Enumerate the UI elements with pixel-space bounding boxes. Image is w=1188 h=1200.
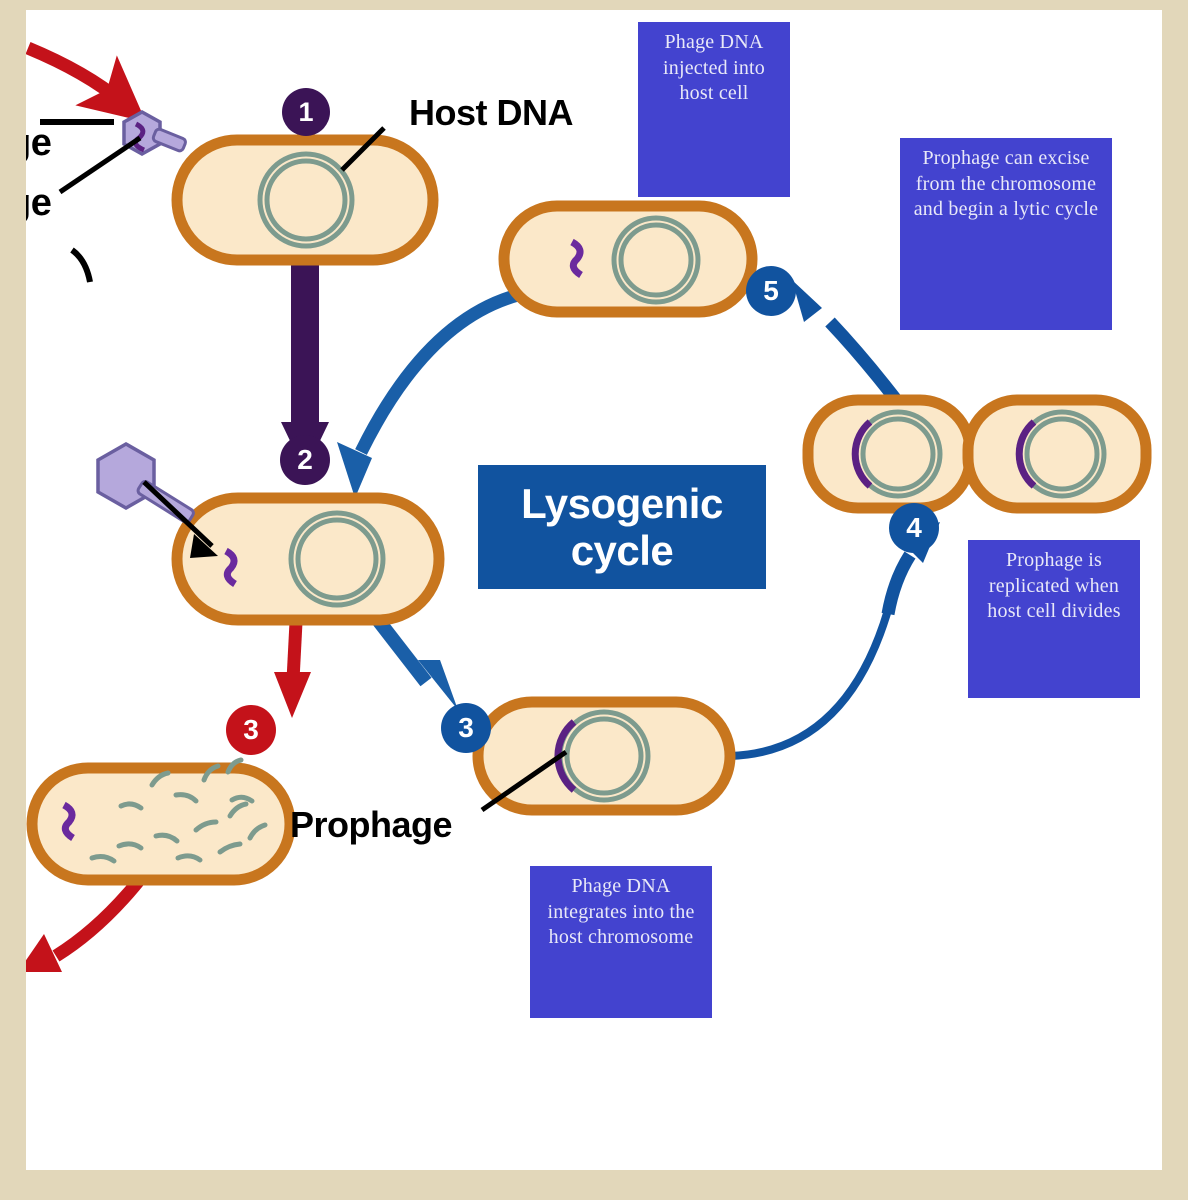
step-badge-3-lysogenic[interactable]: 3	[441, 703, 491, 753]
step-badge-5-label: 5	[763, 275, 779, 307]
step-badge-2[interactable]: 2	[280, 435, 330, 485]
label-phage-clipped-1: ge	[26, 122, 51, 165]
callout-prophage-excise-text: Prophage can excise from the chromosome …	[914, 147, 1099, 220]
step-badge-3-lytic[interactable]: 3	[226, 705, 276, 755]
image-frame: 1 2 3 3 4 5 Lysogenic cycle Phage DNA in…	[0, 0, 1188, 1200]
cell-excised	[504, 206, 752, 312]
cycle-title-banner: Lysogenic cycle	[478, 465, 766, 589]
callout-phage-dna-injected: Phage DNA injected into host cell	[638, 22, 790, 197]
callout-phage-dna-injected-text: Phage DNA injected into host cell	[663, 31, 765, 104]
step-badge-3-lysogenic-label: 3	[458, 712, 474, 744]
cycle-title-line2: cycle	[571, 527, 674, 574]
callout-prophage-replicated: Prophage is replicated when host cell di…	[968, 540, 1140, 698]
label-prophage-text: Prophage	[290, 804, 452, 845]
callout-prophage-excise: Prophage can excise from the chromosome …	[900, 138, 1112, 330]
label-prophage: Prophage	[290, 804, 452, 846]
diagram-canvas: 1 2 3 3 4 5 Lysogenic cycle Phage DNA in…	[26, 10, 1162, 1170]
step-badge-3-lytic-label: 3	[243, 714, 259, 746]
phage-dna-free-2	[226, 551, 235, 584]
arrow-incoming-red	[28, 48, 122, 102]
arrow-lytic-exit-red	[26, 878, 141, 972]
cell-divided-left	[808, 400, 970, 508]
cell-integrated	[478, 702, 730, 810]
label-phage-clipped-2: ge	[26, 182, 51, 225]
cycle-title-line1: Lysogenic	[521, 480, 723, 527]
cell-lytic	[32, 760, 290, 880]
cell-divided-right	[968, 400, 1146, 508]
callout-prophage-replicated-text: Prophage is replicated when host cell di…	[987, 549, 1120, 622]
step-badge-4[interactable]: 4	[889, 503, 939, 553]
phage-injecting-icon	[98, 444, 218, 558]
step-badge-4-label: 4	[906, 512, 922, 544]
label-host-dna: Host DNA	[409, 92, 573, 134]
label-phage-clipped-2-text: ge	[26, 182, 51, 224]
step-badge-1-label: 1	[298, 97, 313, 128]
callout-phage-dna-integrates: Phage DNA integrates into the host chrom…	[530, 866, 712, 1018]
callout-phage-dna-integrates-text: Phage DNA integrates into the host chrom…	[547, 875, 694, 948]
cell-step1	[177, 128, 433, 260]
step-badge-1[interactable]: 1	[282, 88, 330, 136]
phage-attached-icon	[40, 112, 187, 282]
step-badge-2-label: 2	[297, 444, 313, 476]
cell-step2	[177, 498, 439, 620]
phage-dna-lytic	[64, 805, 73, 838]
leader-phage-2	[60, 138, 140, 192]
arrow-step4-to-step5	[792, 280, 900, 405]
label-phage-clipped-1-text: ge	[26, 122, 51, 164]
phage-dna-excised	[572, 242, 581, 275]
label-host-dna-text: Host DNA	[409, 92, 573, 133]
connector-integration-to-division	[730, 610, 888, 756]
step-badge-5[interactable]: 5	[746, 266, 796, 316]
